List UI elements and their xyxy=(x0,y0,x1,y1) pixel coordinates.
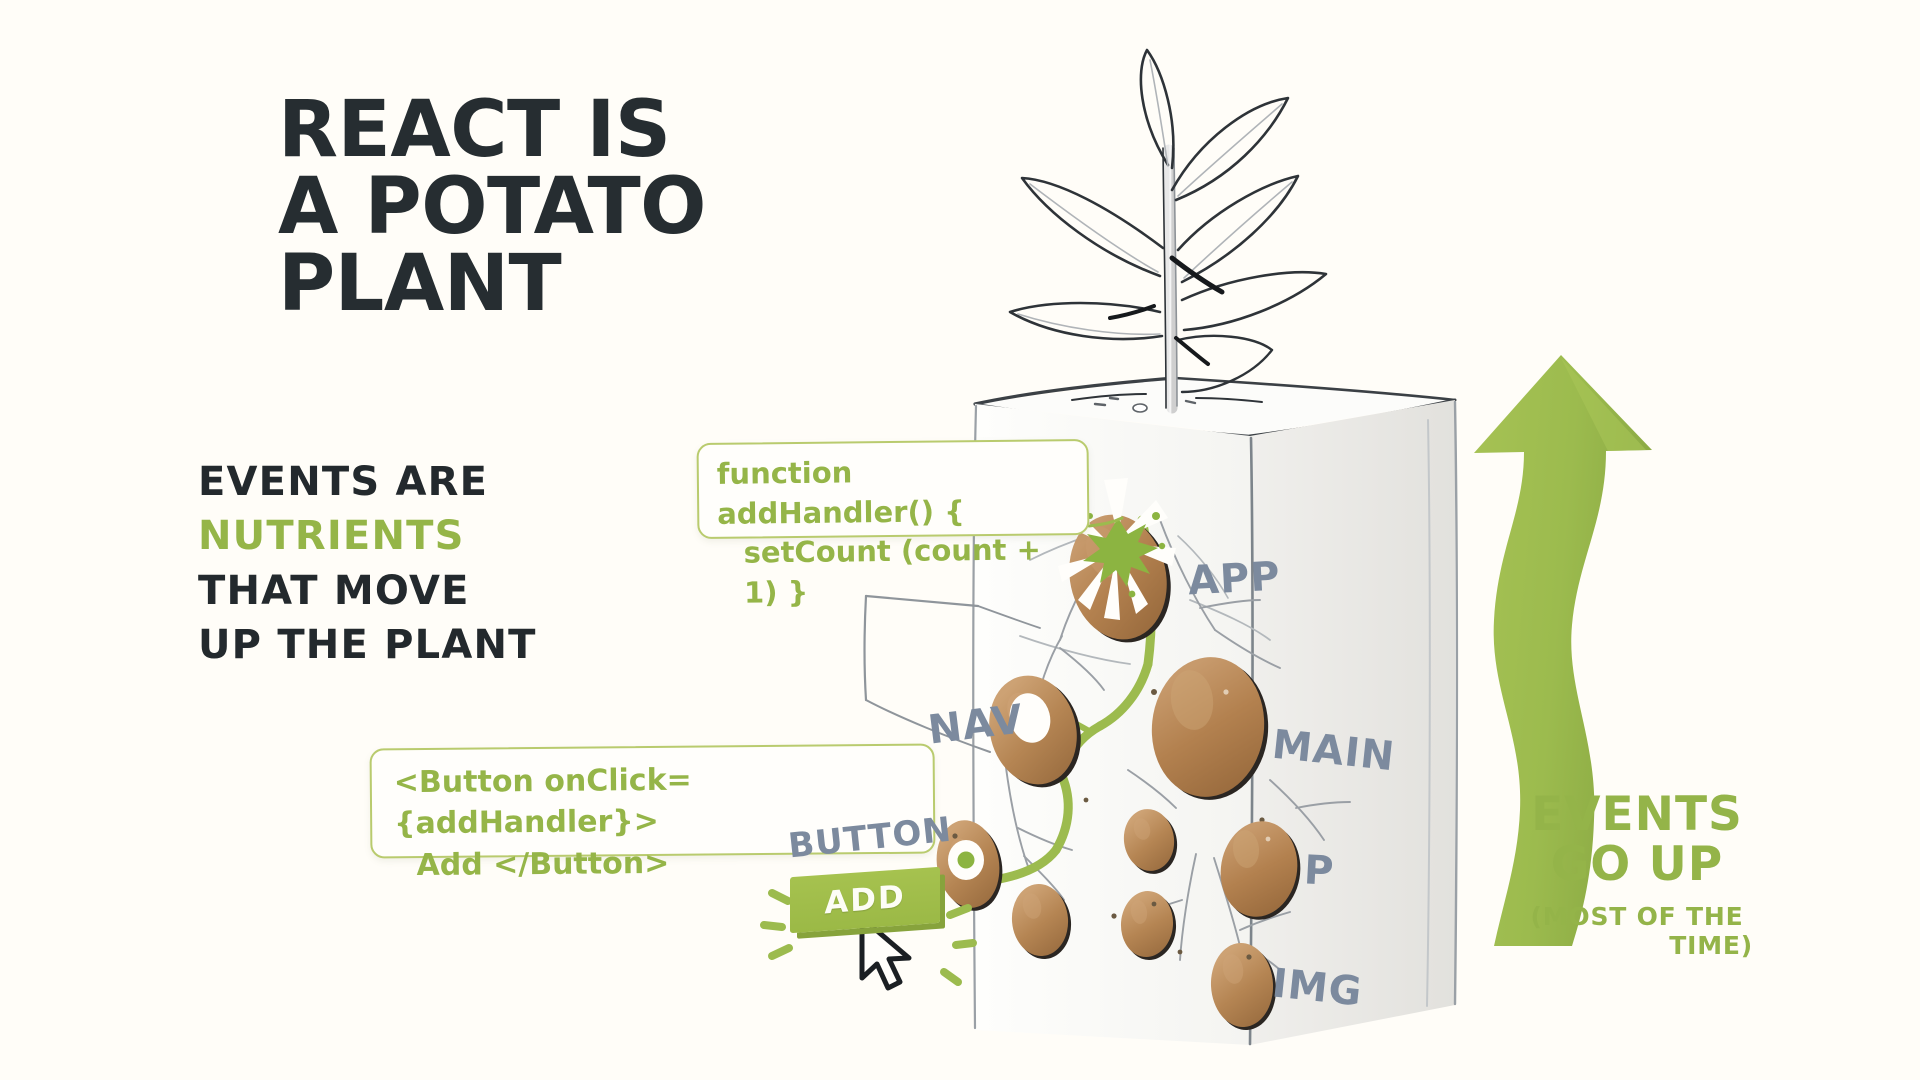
headline-line-3: PLANT xyxy=(278,246,918,323)
page-title: REACT IS A POTATO PLANT xyxy=(278,92,918,324)
node-label-p: P xyxy=(1303,847,1336,895)
node-label-img: IMG xyxy=(1270,960,1365,1015)
illustration-canvas: REACT IS A POTATO PLANT EVENTS ARE NUTRI… xyxy=(0,0,1920,1080)
headline-line-1: REACT IS xyxy=(278,92,918,169)
right-copy-line-2: GO UP xyxy=(1487,840,1787,890)
add-button-group[interactable]: ADD xyxy=(790,872,960,952)
subtitle-line-2-nutrients: NUTRIENTS xyxy=(198,509,668,563)
events-go-up-copy: EVENTS GO UP (MOST OF THE TIME) xyxy=(1487,790,1787,961)
right-copy-line-4: TIME) xyxy=(1487,931,1787,961)
subtitle-line-1: EVENTS ARE xyxy=(198,455,668,509)
node-label-app: APP xyxy=(1187,554,1282,605)
subtitle-line-4: UP THE PLANT xyxy=(198,618,668,672)
code-handler-line-2: setCount (count + 1) } xyxy=(717,531,1074,614)
code-handler-line-1: function addHandler() { xyxy=(717,451,1074,534)
right-copy-line-1: EVENTS xyxy=(1487,790,1787,840)
code-callout-add-handler: function addHandler() { setCount (count … xyxy=(697,439,1090,539)
right-copy-line-3: (MOST OF THE xyxy=(1487,902,1787,932)
potato-plant-icon xyxy=(1010,50,1326,408)
subtitle-block: EVENTS ARE NUTRIENTS THAT MOVE UP THE PL… xyxy=(198,455,668,673)
headline-line-2: A POTATO xyxy=(278,169,918,246)
subtitle-line-3: THAT MOVE xyxy=(198,564,668,618)
